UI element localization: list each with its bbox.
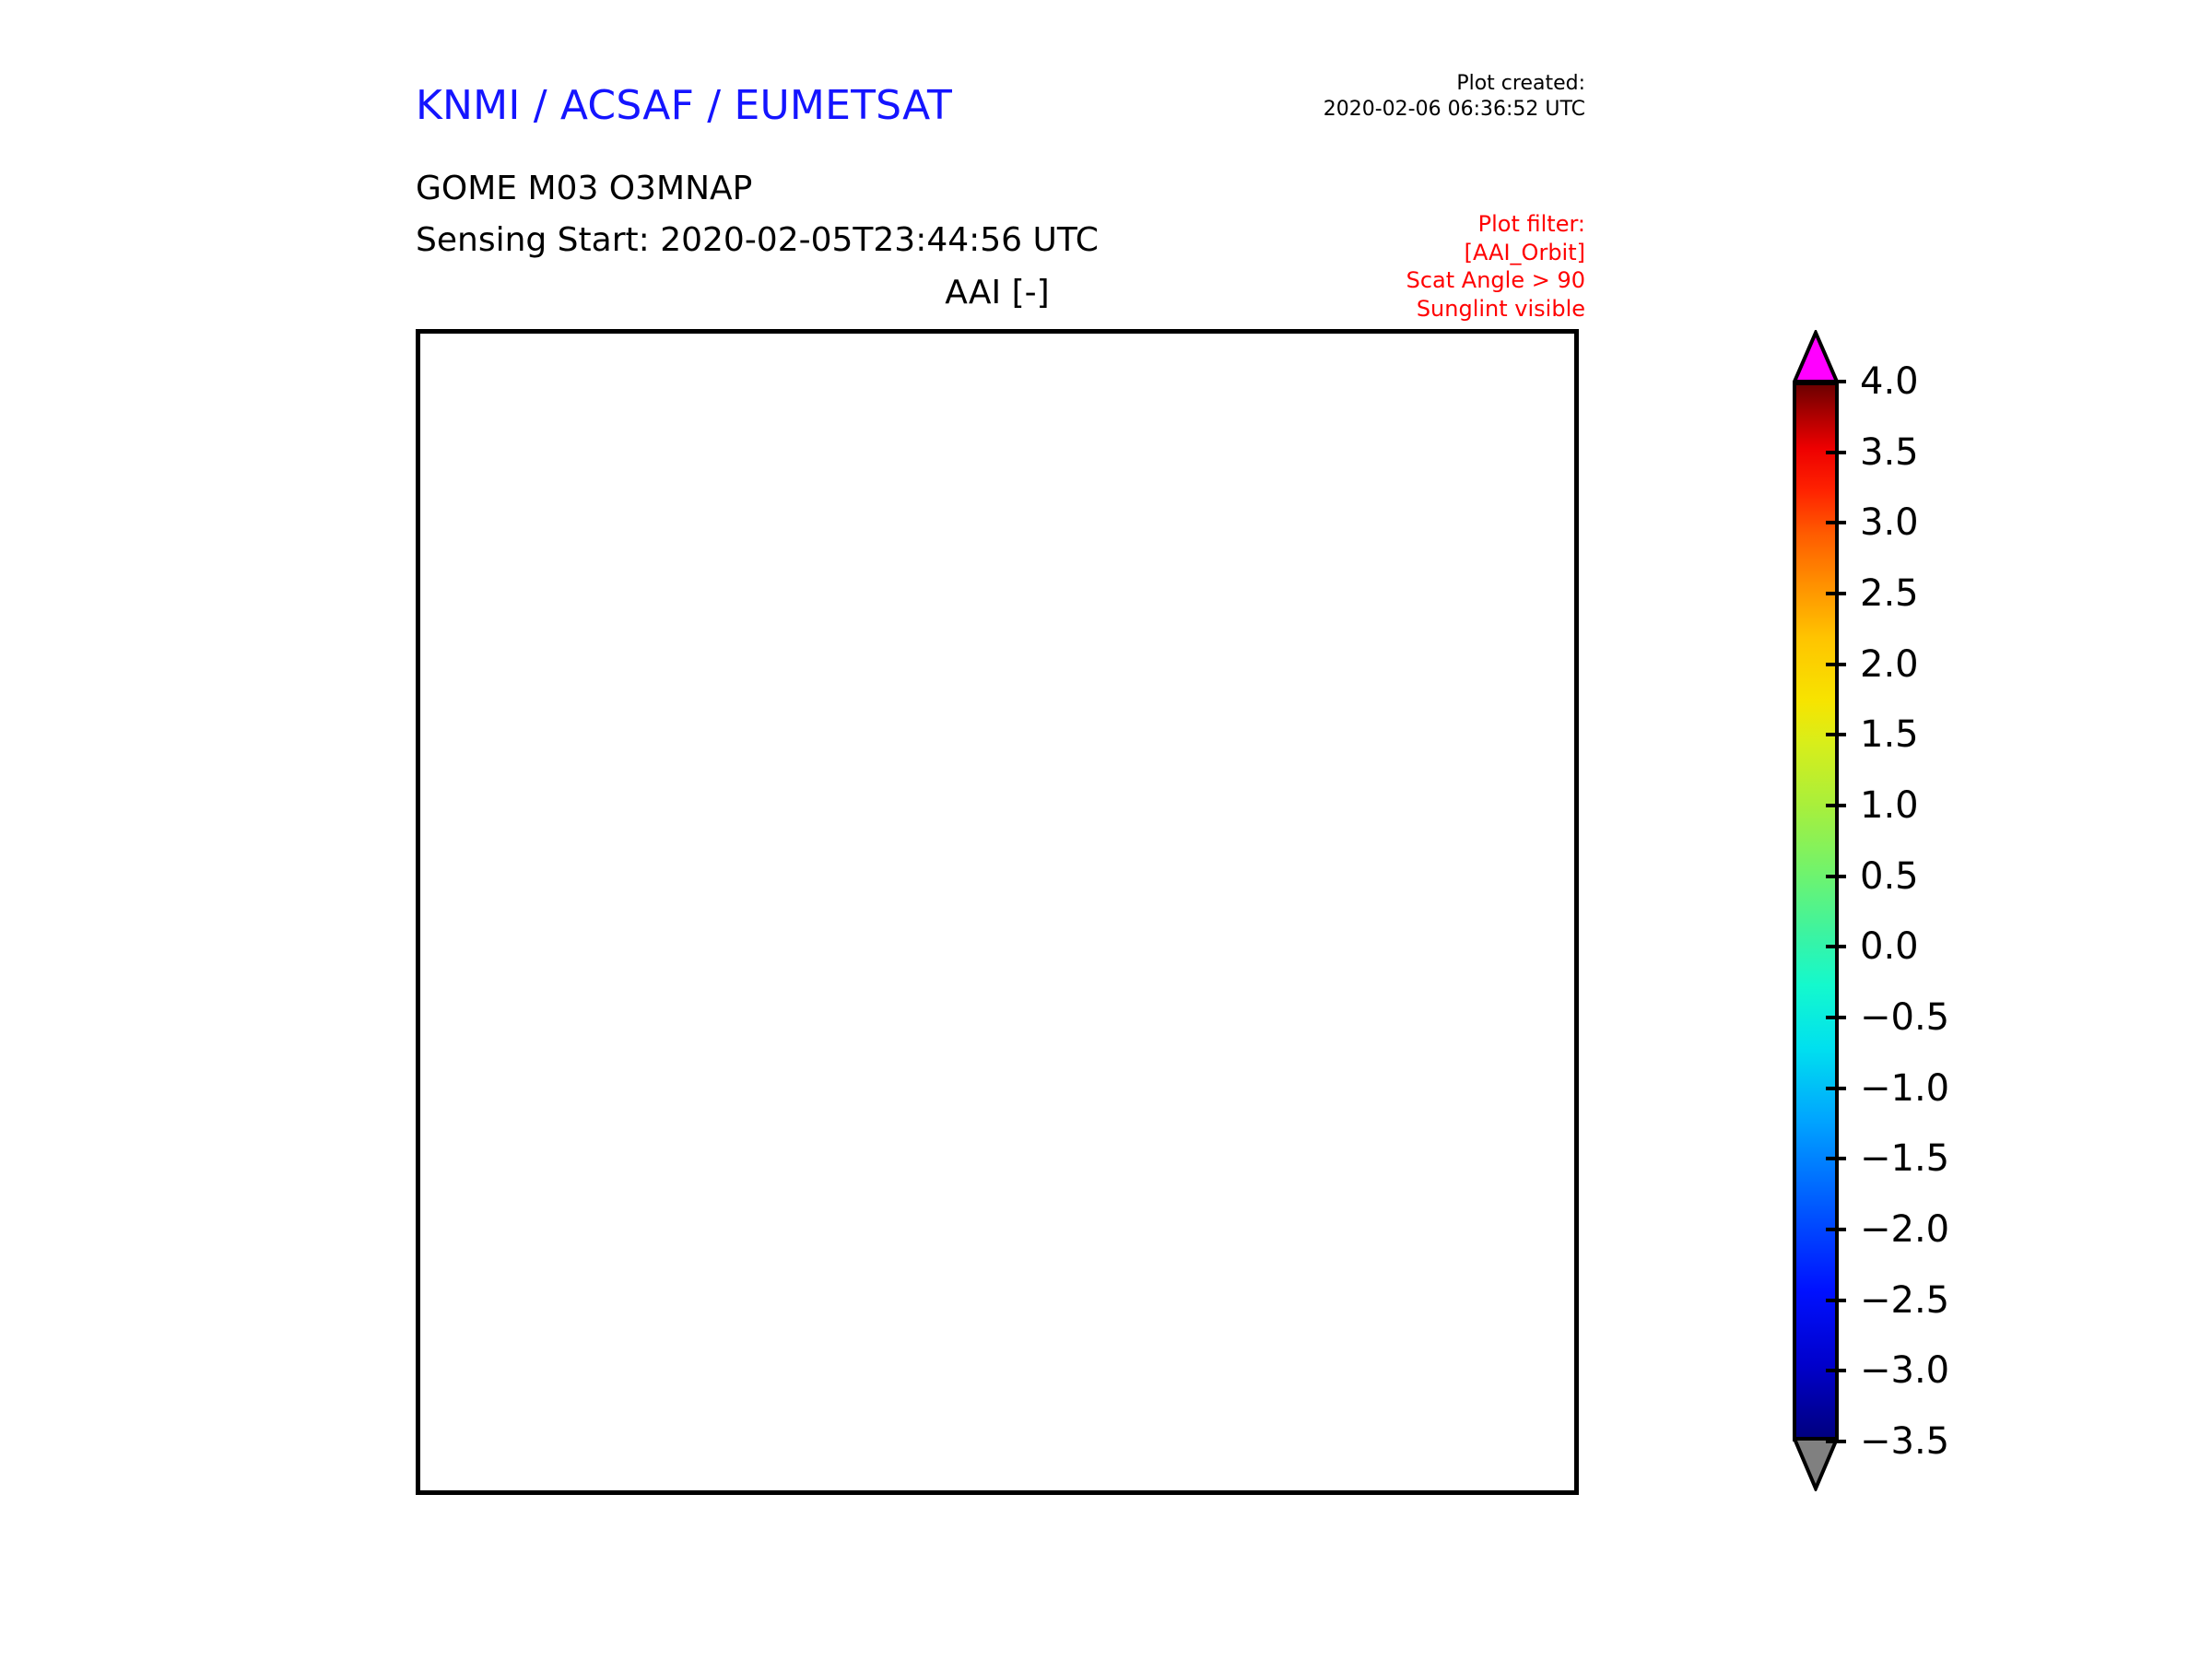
colorbar-tick (1826, 1157, 1846, 1160)
colorbar-tick (1826, 1369, 1846, 1372)
colorbar-tick (1826, 592, 1846, 595)
colorbar-under-arrow-icon (1793, 1436, 1839, 1491)
sensing-start-time: Sensing Start: 2020-02-05T23:44:56 UTC (416, 221, 1099, 259)
colorbar-tick (1826, 380, 1846, 383)
colorbar-tick-label: −2.0 (1860, 1208, 1949, 1251)
colorbar-tick (1826, 451, 1846, 454)
colorbar-tick (1826, 804, 1846, 807)
colorbar-tick-label: 1.5 (1860, 713, 1919, 756)
colorbar-tick (1826, 521, 1846, 524)
colorbar-tick (1826, 1299, 1846, 1302)
colorbar-tick-label: −0.5 (1860, 996, 1949, 1039)
organisation-title: KNMI / ACSAF / EUMETSAT (416, 83, 952, 130)
colorbar-gradient (1793, 382, 1839, 1441)
map-data-canvas (420, 334, 1574, 1490)
product-name: GOME M03 O3MNAP (416, 170, 752, 207)
colorbar-tick (1826, 1087, 1846, 1090)
colorbar-tick-label: −3.5 (1860, 1420, 1949, 1463)
plot-created-timestamp: 2020-02-06 06:36:52 UTC (1324, 98, 1585, 121)
colorbar-tick-label: −2.5 (1860, 1279, 1949, 1322)
colorbar-tick (1826, 945, 1846, 948)
colorbar-tick (1826, 1228, 1846, 1231)
colorbar-tick-label: 3.0 (1860, 501, 1919, 544)
colorbar-tick (1826, 1440, 1846, 1443)
colorbar-tick (1826, 733, 1846, 736)
plot-filter-line: [AAI_Orbit] (1406, 239, 1585, 267)
colorbar: 4.03.53.02.52.01.51.00.50.0−0.5−1.0−1.5−… (1788, 323, 2175, 1502)
colorbar-tick (1826, 1016, 1846, 1019)
colorbar-tick (1826, 875, 1846, 878)
colorbar-tick-label: 2.0 (1860, 643, 1919, 686)
colorbar-tick (1826, 663, 1846, 666)
colorbar-tick-label: 0.0 (1860, 925, 1919, 968)
plot-title: AAI [-] (416, 274, 1579, 312)
colorbar-tick-label: −3.0 (1860, 1349, 1949, 1392)
colorbar-over-arrow-icon (1793, 330, 1839, 383)
colorbar-tick-label: 1.0 (1860, 784, 1919, 827)
colorbar-tick-label: 4.0 (1860, 360, 1919, 403)
plot-created-label: Plot created: (1456, 72, 1585, 95)
colorbar-tick-label: 0.5 (1860, 855, 1919, 898)
colorbar-tick-label: −1.0 (1860, 1067, 1949, 1110)
colorbar-tick-label: −1.5 (1860, 1137, 1949, 1180)
plot-filter-line: Plot filter: (1406, 210, 1585, 239)
colorbar-tick-label: 2.5 (1860, 572, 1919, 615)
map-plot-area (416, 329, 1579, 1495)
colorbar-tick-label: 3.5 (1860, 431, 1919, 474)
